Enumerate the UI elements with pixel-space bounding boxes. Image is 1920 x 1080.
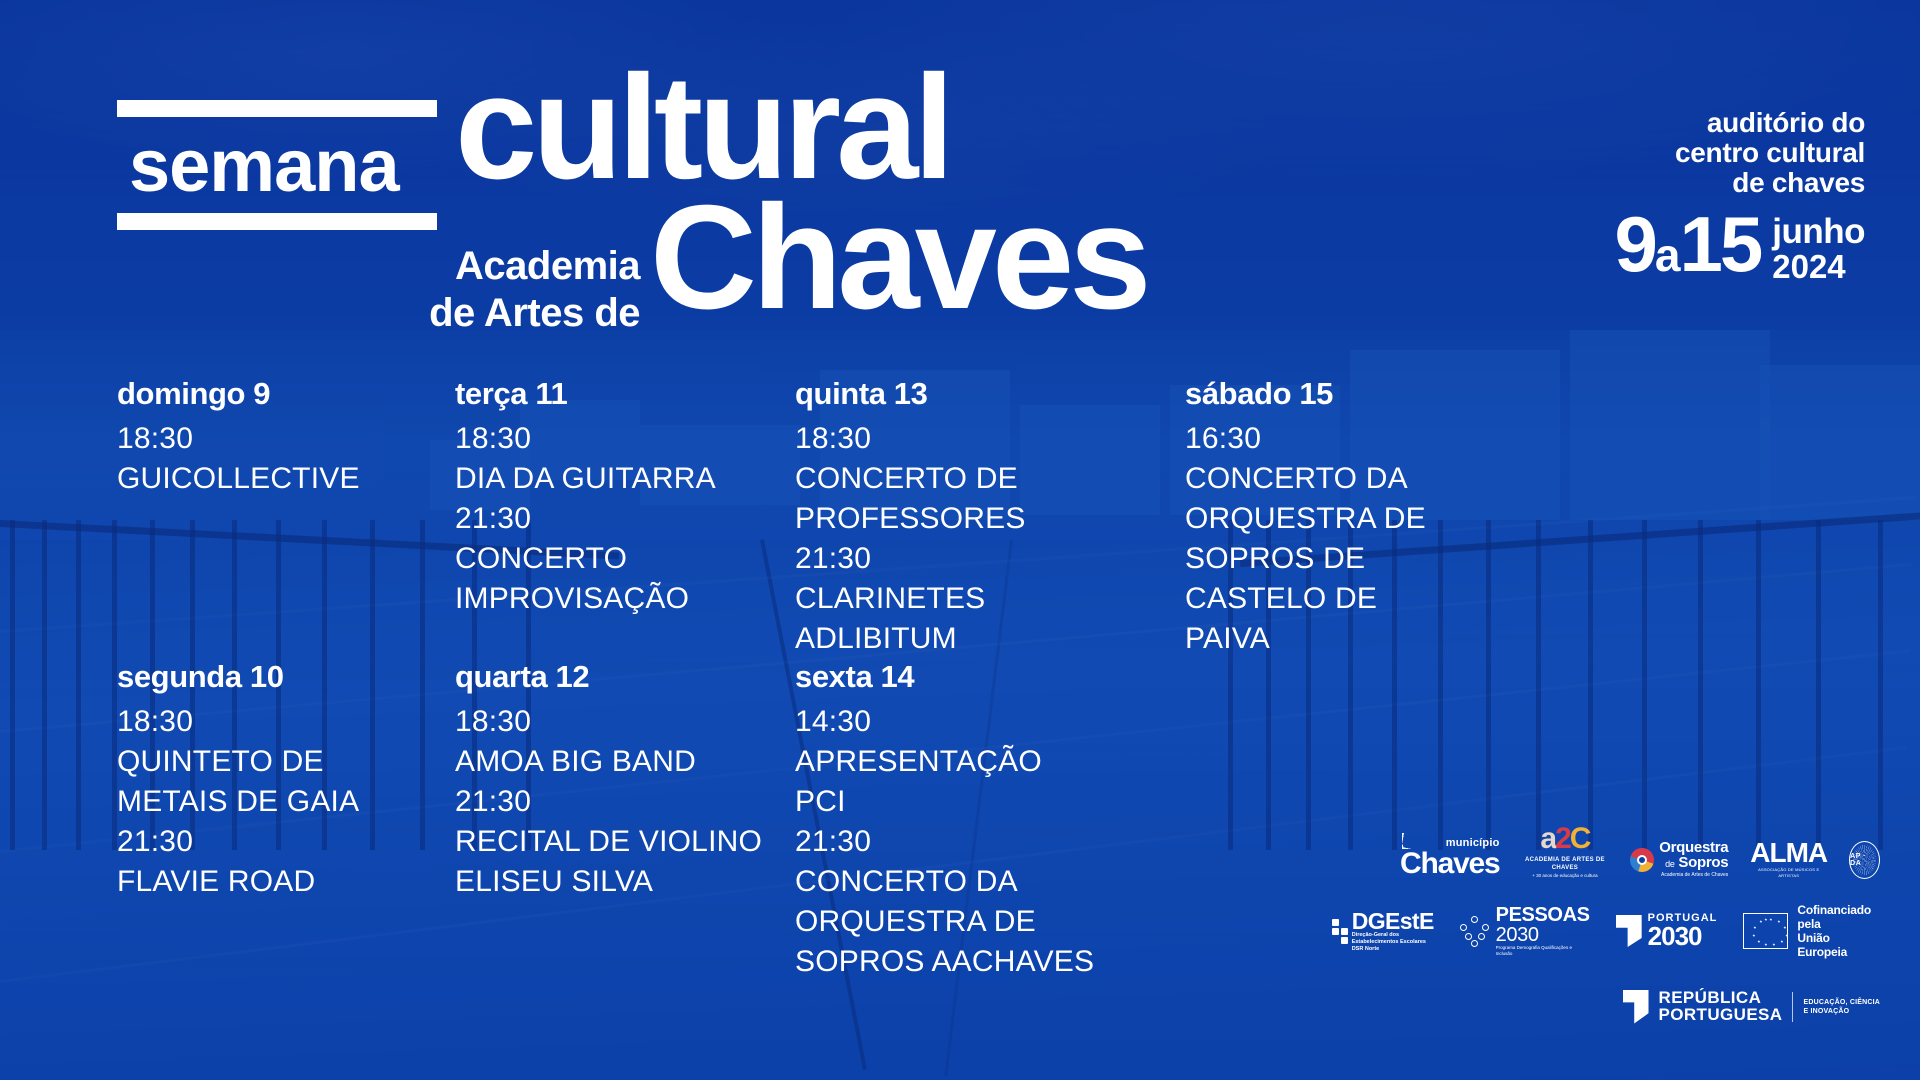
date-year: 2024	[1772, 249, 1865, 285]
logo-alma: ALMA ASSOCIAÇÃO DE MÚSICOS E ARTISTAS	[1750, 839, 1827, 879]
slot-title: GUICOLLECTIVE	[117, 459, 417, 499]
schedule-column-sabado: sábado 15 16:30 CONCERTO DA ORQUESTRA DE…	[1185, 375, 1435, 659]
schedule-slot: 14:30 APRESENTAÇÃO PCI	[795, 702, 1095, 822]
republica-department: EDUCAÇÃO, CIÊNCIA E INOVAÇÃO	[1803, 998, 1880, 1016]
slot-title: FLAVIE ROAD	[117, 862, 417, 902]
masthead: semana cultural Chaves Academia de Artes…	[0, 0, 1920, 360]
seal-text: AP · DA	[1850, 853, 1879, 867]
schedule-slot: 16:30 CONCERTO DA ORQUESTRA DE SOPROS DE…	[1185, 419, 1435, 659]
logo-a2c: a2C ACADEMIA DE ARTES DE CHAVES + 30 ano…	[1522, 824, 1609, 879]
venue-line-1: auditório do	[1675, 108, 1865, 138]
logo-pessoas-2030: PESSOAS 2030 Programa Demografia Qualifi…	[1460, 906, 1590, 957]
academia-line-2: de Artes de	[300, 290, 640, 337]
eu-line-1: Cofinanciado pela	[1797, 903, 1880, 931]
day-heading: quinta 13	[795, 375, 1125, 413]
a2c-subtitle-2: + 30 anos de educação e cultura	[1522, 872, 1609, 879]
slot-title: RECITAL DE VIOLINO ELISEU SILVA	[455, 822, 765, 902]
dgeste-name: DGEstE	[1352, 910, 1434, 932]
slot-title: AMOA BIG BAND	[455, 742, 765, 782]
logo-republica-portuguesa: REPÚBLICA PORTUGUESA EDUCAÇÃO, CIÊNCIA E…	[1623, 989, 1880, 1024]
day-heading: quarta 12	[455, 658, 765, 696]
semana-rule-bottom	[117, 213, 437, 230]
logo-european-union: Cofinanciado pela União Europeia	[1743, 903, 1880, 959]
orquestra-line-2: de Sopros	[1659, 855, 1728, 872]
schedule-slot: 21:30 CLARINETES ADLIBITUM	[795, 539, 1125, 659]
schedule-column-quarta: quarta 12 18:30 AMOA BIG BAND 21:30 RECI…	[455, 658, 765, 902]
chaves-burst-icon	[1402, 833, 1424, 849]
date-start: 9	[1615, 200, 1655, 288]
schedule-column-domingo: domingo 9 18:30 GUICOLLECTIVE	[117, 375, 417, 499]
pessoas-sub: Programa Demografia Qualificações e Incl…	[1496, 945, 1590, 957]
schedule-column-terca: terça 11 18:30 DIA DA GUITARRA 21:30 CON…	[455, 375, 755, 619]
a2c-letter-a: a	[1540, 822, 1555, 855]
logo-dgeste: DGEstE Direção-Geral dos Estabelecimento…	[1332, 910, 1434, 953]
academia-line-1: Academia	[300, 243, 640, 290]
schedule-column-segunda: segunda 10 18:30 QUINTETO DE METAIS DE G…	[117, 658, 417, 902]
alma-subtitle: ASSOCIAÇÃO DE MÚSICOS E ARTISTAS	[1750, 867, 1827, 879]
slot-title: CONCERTO DA ORQUESTRA DE SOPROS AACHAVES	[795, 862, 1095, 982]
logo-municipio-chaves: município Chaves	[1400, 838, 1500, 879]
republica-leaf-icon	[1623, 990, 1649, 1024]
slot-time: 14:30	[795, 702, 1095, 742]
republica-dept-1: EDUCAÇÃO, CIÊNCIA	[1803, 998, 1880, 1007]
date-month: junho	[1772, 208, 1865, 249]
republica-name: REPÚBLICA PORTUGUESA	[1659, 989, 1783, 1024]
a2c-subtitle: ACADEMIA DE ARTES DE CHAVES	[1522, 856, 1609, 872]
schedule-slot: 18:30 DIA DA GUITARRA	[455, 419, 755, 499]
slot-title: QUINTETO DE METAIS DE GAIA	[117, 742, 417, 822]
portugal-leaf-icon	[1616, 915, 1642, 947]
slot-time: 18:30	[795, 419, 1125, 459]
logo-chaves-name: Chaves	[1400, 849, 1500, 879]
eu-line-2: União Europeia	[1797, 931, 1880, 959]
venue-line-3: de chaves	[1675, 168, 1865, 198]
logo-portugal-2030: PORTUGAL 2030	[1616, 913, 1718, 949]
logo-seal-icon: AP · DA	[1849, 841, 1880, 879]
dgeste-squares-icon	[1332, 919, 1348, 944]
schedule-column-sexta: sexta 14 14:30 APRESENTAÇÃO PCI 21:30 CO…	[795, 658, 1095, 982]
portugal-year: 2030	[1648, 924, 1718, 949]
slot-time: 18:30	[117, 702, 417, 742]
eu-text: Cofinanciado pela União Europeia	[1797, 903, 1880, 959]
day-heading: sexta 14	[795, 658, 1095, 696]
dgeste-text: DGEstE Direção-Geral dos Estabelecimento…	[1352, 910, 1434, 953]
republica-dept-2: E INOVAÇÃO	[1803, 1007, 1880, 1016]
date-end: 15	[1679, 200, 1760, 288]
slot-time: 16:30	[1185, 419, 1435, 459]
slot-title: CONCERTO IMPROVISAÇÃO	[455, 539, 755, 619]
republica-line-1: REPÚBLICA	[1659, 989, 1783, 1006]
a2c-mark-icon: a2C	[1522, 824, 1609, 854]
portugal-text: PORTUGAL 2030	[1648, 913, 1718, 949]
slot-time: 21:30	[795, 822, 1095, 862]
schedule-slot: 21:30 RECITAL DE VIOLINO ELISEU SILVA	[455, 782, 765, 902]
slot-time: 21:30	[455, 782, 765, 822]
slot-title: CONCERTO DE PROFESSORES	[795, 459, 1125, 539]
orquestra-text: Orquestra de Sopros Academia de Artes de…	[1659, 840, 1728, 879]
semana-word: semana	[117, 117, 437, 213]
day-heading: segunda 10	[117, 658, 417, 696]
orquestra-de: de	[1665, 859, 1674, 869]
orquestra-swirl-icon	[1630, 848, 1654, 872]
pessoas-name: PESSOAS	[1496, 906, 1590, 925]
month-year-block: junho 2024	[1772, 208, 1865, 285]
schedule-slot: 18:30 GUICOLLECTIVE	[117, 419, 417, 499]
schedule-slot: 21:30 CONCERTO IMPROVISAÇÃO	[455, 499, 755, 619]
slot-time: 21:30	[117, 822, 417, 862]
orquestra-sopros: Sopros	[1678, 854, 1728, 871]
pessoas-year: 2030	[1496, 925, 1590, 945]
logo-row-republica: REPÚBLICA PORTUGUESA EDUCAÇÃO, CIÊNCIA E…	[1400, 989, 1880, 1024]
schedule-slot: 18:30 CONCERTO DE PROFESSORES	[795, 419, 1125, 539]
venue-line-2: centro cultural	[1675, 138, 1865, 168]
schedule-slot: 18:30 QUINTETO DE METAIS DE GAIA	[117, 702, 417, 822]
dgeste-sub-3: DSR Norte	[1352, 946, 1434, 953]
dgeste-sub-2: Estabelecimentos Escolares	[1352, 939, 1434, 946]
day-heading: sábado 15	[1185, 375, 1435, 413]
a2c-digit-2: 2	[1555, 822, 1570, 855]
date-separator: a	[1655, 229, 1680, 281]
orquestra-line-1: Orquestra	[1659, 840, 1728, 855]
schedule-column-quinta: quinta 13 18:30 CONCERTO DE PROFESSORES …	[795, 375, 1125, 659]
semana-rule-top	[117, 100, 437, 117]
republica-divider	[1792, 992, 1793, 1022]
slot-title: APRESENTAÇÃO PCI	[795, 742, 1095, 822]
date-range: 9a15	[1615, 208, 1761, 291]
venue-block: auditório do centro cultural de chaves	[1675, 108, 1865, 198]
logo-row-funding: DGEstE Direção-Geral dos Estabelecimento…	[1400, 903, 1880, 959]
alma-name: ALMA	[1750, 839, 1827, 867]
republica-line-2: PORTUGUESA	[1659, 1006, 1783, 1024]
day-heading: terça 11	[455, 375, 755, 413]
subtitle-academia: Academia de Artes de	[300, 243, 640, 337]
pessoas-text: PESSOAS 2030 Programa Demografia Qualifi…	[1496, 906, 1590, 957]
schedule-slot: 21:30 FLAVIE ROAD	[117, 822, 417, 902]
logo-row-partners: município Chaves a2C ACADEMIA DE ARTES D…	[1400, 824, 1880, 879]
slot-time: 18:30	[117, 419, 417, 459]
slot-title: CONCERTO DA ORQUESTRA DE SOPROS DE CASTE…	[1185, 459, 1435, 659]
slot-time: 21:30	[455, 499, 755, 539]
date-range-block: 9a15 junho 2024	[1615, 208, 1866, 291]
day-heading: domingo 9	[117, 375, 417, 413]
orquestra-line-3: Academia de Artes de Chaves	[1659, 872, 1728, 879]
slot-time: 18:30	[455, 419, 755, 459]
slot-time: 21:30	[795, 539, 1125, 579]
eu-flag-icon	[1743, 913, 1788, 949]
semana-lockup: semana	[117, 100, 437, 230]
sponsor-logo-band: município Chaves a2C ACADEMIA DE ARTES D…	[1400, 824, 1880, 1024]
slot-time: 18:30	[455, 702, 765, 742]
title-chaves: Chaves	[650, 192, 1147, 324]
slot-title: CLARINETES ADLIBITUM	[795, 579, 1125, 659]
schedule-slot: 18:30 AMOA BIG BAND	[455, 702, 765, 782]
a2c-letter-c: C	[1570, 822, 1590, 855]
schedule-slot: 21:30 CONCERTO DA ORQUESTRA DE SOPROS AA…	[795, 822, 1095, 982]
pessoas-network-icon	[1460, 916, 1490, 946]
logo-orquestra-sopros: Orquestra de Sopros Academia de Artes de…	[1630, 840, 1728, 879]
slot-title: DIA DA GUITARRA	[455, 459, 755, 499]
